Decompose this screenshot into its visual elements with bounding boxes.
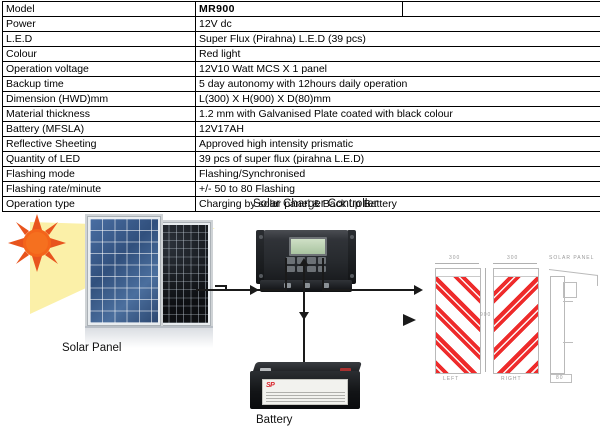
dim-line-width-left [435,263,479,264]
screw-icon [259,274,263,278]
spec-label: Dimension (HWD)mm [3,92,196,107]
spec-label: Operation voltage [3,62,196,77]
controller-lcd-display [289,237,327,256]
controller-button[interactable] [286,266,295,273]
wire-panel-to-controller [196,289,286,291]
dim-line-height [485,268,486,372]
sign-top-cap-right [494,269,538,277]
spec-label: Flashing mode [3,167,196,182]
sign-led-dots-right [494,269,538,373]
arrow-into-sign [403,314,416,326]
spec-label: Model [3,2,196,17]
spec-value: +/- 50 to 80 Flashing [196,182,600,197]
controller-button[interactable] [307,266,316,273]
system-diagram: Solar Panel Solar Charger Controller [0,196,600,432]
dim-width-right: 300 [507,255,518,261]
spec-value: L(300) X H(900) X D(80)mm [196,92,600,107]
poly-cells [90,219,158,323]
spec-label: Flashing rate/minute [3,182,196,197]
table-row: Battery (MFSLA)12V17AH [3,122,600,137]
arrow-to-battery [299,312,309,320]
solar-panel-graphic [85,214,225,334]
spec-label: Backup time [3,77,196,92]
sign-led-dots-left [436,269,480,373]
caption-left: LEFT [443,376,459,382]
dim-depth: 80 [556,375,564,381]
table-row: Quantity of LED39 pcs of super flux (pir… [3,152,600,167]
sun-glyph [8,214,66,272]
table-row: Flashing modeFlashing/Synchronised [3,167,600,182]
spec-value: 12V10 Watt MCS X 1 panel [196,62,600,77]
sign-stripes-right [494,269,538,373]
arrow-panel-to-controller [250,285,259,295]
specification-table: ModelMR900Power12V dcL.E.DSuper Flux (Pi… [2,1,600,212]
battery-label-caption: Battery [256,414,292,426]
battery-brand-logo: SP [266,382,274,389]
wire-controller-to-sign [322,289,420,291]
side-view-box-upper [563,282,577,298]
sign-face-right [493,268,539,374]
battery-label-text-lines [266,390,345,402]
spec-label: L.E.D [3,32,196,47]
spec-label: Power [3,17,196,32]
caption-right: RIGHT [501,376,522,382]
dim-line-width-right [493,263,537,264]
spec-value: Flashing/Synchronised [196,167,600,182]
table-row: ModelMR900 [3,2,600,17]
dim-width-left: 300 [449,255,460,261]
controller-title: Solar Charger Controller [253,198,378,210]
table-row: Power12V dc [3,17,600,32]
sun-icon [8,214,66,272]
wire-controller-load [322,258,324,289]
table-row: Operation voltage12V10 Watt MCS X 1 pane… [3,62,600,77]
battery-graphic: SP [248,362,366,412]
sign-technical-drawing: 300 300 900 LEFT RIGHT SOLAR PANEL 80 [425,254,597,404]
table-body: ModelMR900Power12V dcL.E.DSuper Flux (Pi… [3,2,600,212]
solar-panel-poly [85,214,163,328]
table-row: Backup time5 day autonomy with 12hours d… [3,77,600,92]
table-row: Reflective SheetingApproved high intensi… [3,137,600,152]
sign-face-left [435,268,481,374]
caption-solar-panel: SOLAR PANEL [549,255,594,261]
spec-value: Red light [196,47,600,62]
spec-value: Approved high intensity prismatic [196,137,600,152]
screw-icon [350,274,354,278]
controller-button[interactable] [286,257,295,264]
spec-label: Reflective Sheeting [3,137,196,152]
solar-panel-label: Solar Panel [62,342,121,354]
spec-value: 1.2 mm with Galvanised Plate coated with… [196,107,600,122]
arrow-to-controller-battery [299,258,309,266]
spec-value: 39 pcs of super flux (pirahna L.E.D) [196,152,600,167]
spec-value: Super Flux (Pirahna) L.E.D (39 pcs) [196,32,600,47]
wire-controller-in [285,258,287,291]
table-row: Flashing rate/minute+/- 50 to 80 Flashin… [3,182,600,197]
sign-stripes-left [436,269,480,373]
spec-value: 12V17AH [196,122,600,137]
table-row: ColourRed light [3,47,600,62]
spec-value: 5 day autonomy with 12hours daily operat… [196,77,600,92]
spec-value: MR900 [196,2,403,17]
spec-label: Material thickness [3,107,196,122]
spec-label: Battery (MFSLA) [3,122,196,137]
side-view-tick-1 [563,301,573,302]
table-row: Material thickness1.2 mm with Galvanised… [3,107,600,122]
screw-icon [259,235,263,239]
spec-extra-cell [403,2,600,17]
controller-rail-right [347,230,356,284]
spec-value: 12V dc [196,17,600,32]
arrow-controller-to-sign [414,285,423,295]
battery-label: SP [262,379,348,405]
dim-height: 900 [480,312,491,318]
spec-label: Quantity of LED [3,152,196,167]
spec-label: Colour [3,47,196,62]
sign-top-cap-left [436,269,480,277]
table-row: L.E.DSuper Flux (Pirahna) L.E.D (39 pcs) [3,32,600,47]
screw-icon [350,235,354,239]
table-row: Dimension (HWD)mmL(300) X H(900) X D(80)… [3,92,600,107]
side-view-tick-2 [563,342,573,343]
